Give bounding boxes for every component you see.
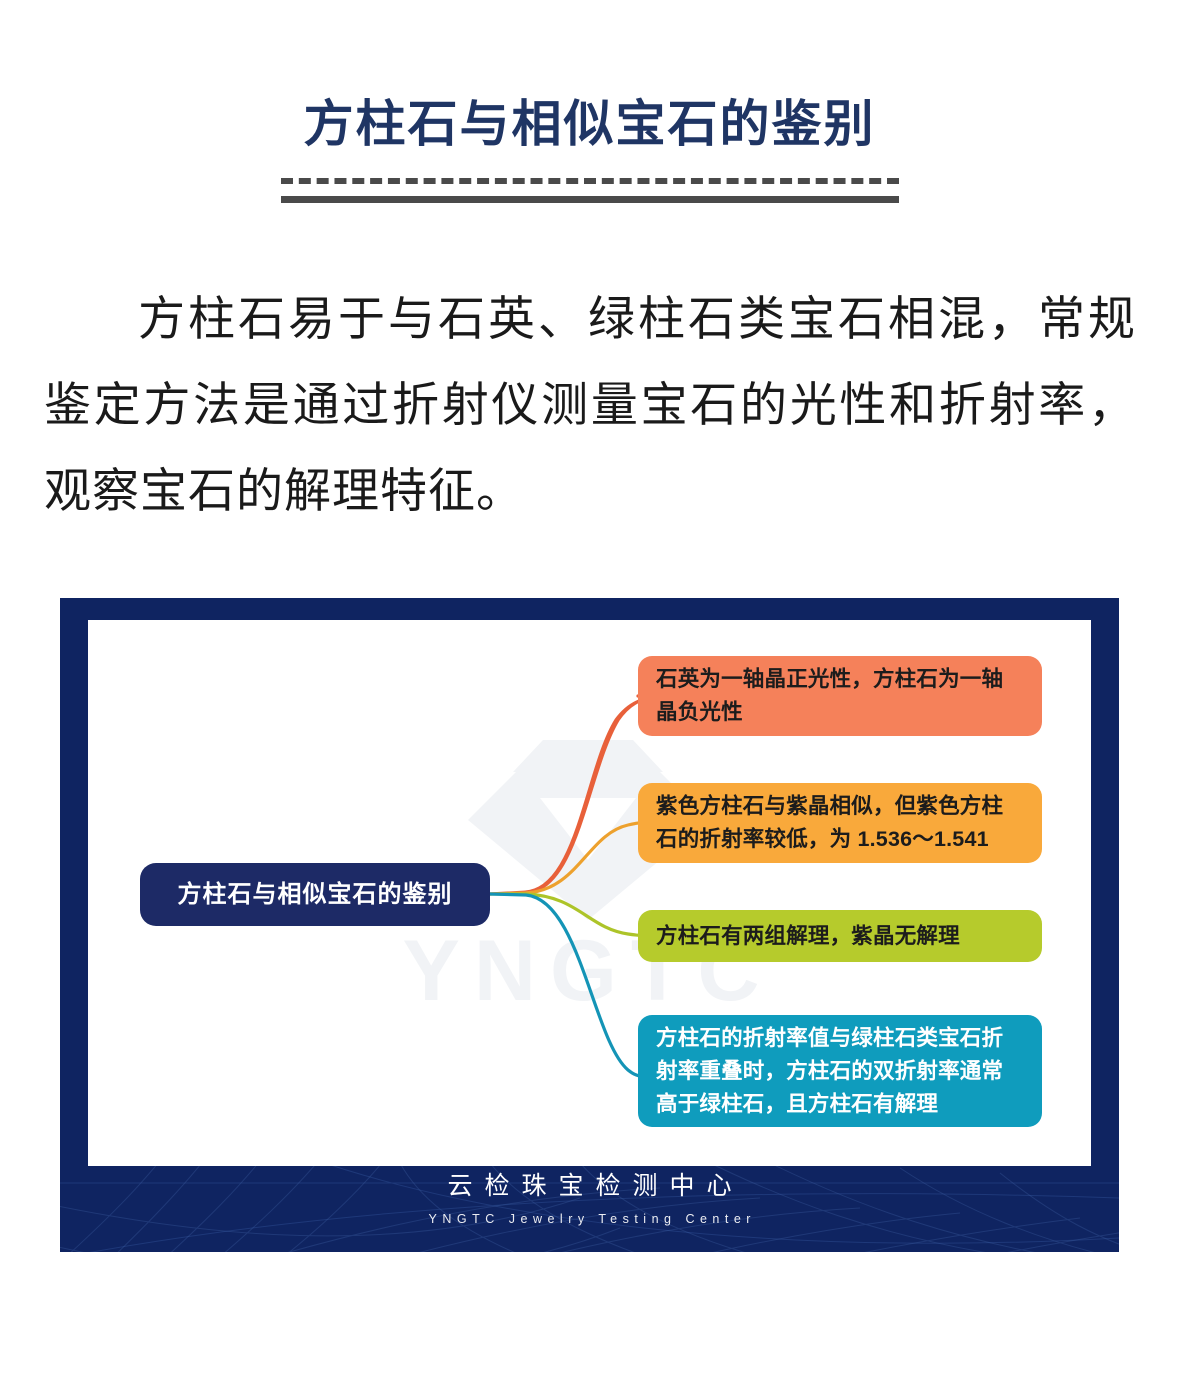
title-block: 方柱石与相似宝石的鉴别 (0, 96, 1179, 154)
page-title: 方柱石与相似宝石的鉴别 (0, 96, 1179, 154)
mindmap-branch-node-1[interactable]: 紫色方柱石与紫晶相似，但紫色方柱石的折射率较低，为 1.536～1.541 (638, 783, 1042, 863)
solid-rule (281, 196, 899, 203)
mindmap-card: YNGTC 方柱石与相似宝石的鉴别 石英为一轴晶正光性，方柱石为一轴晶负光性 (88, 620, 1091, 1166)
mindmap-branch-node-3[interactable]: 方柱石的折射率值与绿柱石类宝石折射率重叠时，方柱石的双折射率通常高于绿柱石，且方… (638, 1015, 1042, 1127)
mindmap-branch-node-2[interactable]: 方柱石有两组解理，紫晶无解理 (638, 910, 1042, 962)
brand-name-en: YNGTC Jewelry Testing Center (60, 1211, 1119, 1227)
brand-name-cn: 云检珠宝检测中心 (60, 1170, 1119, 1202)
footer-brand: 云检珠宝检测中心 YNGTC Jewelry Testing Center (60, 1170, 1119, 1227)
mindmap-branch-label-1: 紫色方柱石与紫晶相似，但紫色方柱石的折射率较低，为 1.536～1.541 (656, 790, 1024, 856)
mindmap-root-node[interactable]: 方柱石与相似宝石的鉴别 (140, 863, 490, 926)
mindmap-branch-label-2: 方柱石有两组解理，紫晶无解理 (656, 920, 960, 953)
title-rules (281, 178, 899, 206)
body-paragraph: 方柱石易于与石英、绿柱石类宝石相混，常规鉴定方法是通过折射仪测量宝石的光性和折射… (44, 276, 1136, 534)
diagram-frame: YNGTC 方柱石与相似宝石的鉴别 石英为一轴晶正光性，方柱石为一轴晶负光性 (60, 598, 1119, 1252)
mindmap-branch-node-0[interactable]: 石英为一轴晶正光性，方柱石为一轴晶负光性 (638, 656, 1042, 736)
mindmap-branch-label-0: 石英为一轴晶正光性，方柱石为一轴晶负光性 (656, 663, 1024, 729)
mindmap-root-label: 方柱石与相似宝石的鉴别 (178, 878, 453, 911)
dashed-rule (281, 178, 899, 184)
mindmap-branch-label-3: 方柱石的折射率值与绿柱石类宝石折射率重叠时，方柱石的双折射率通常高于绿柱石，且方… (656, 1022, 1024, 1121)
